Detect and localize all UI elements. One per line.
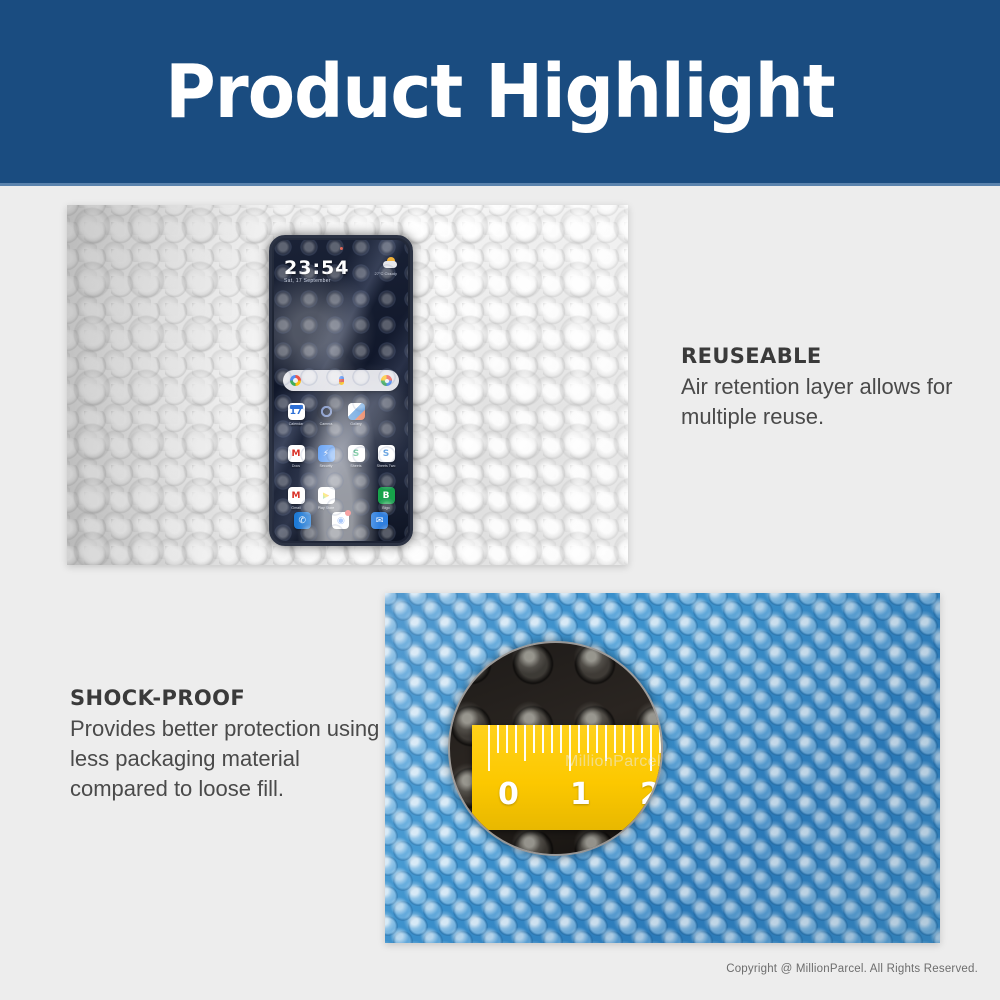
gmail-icon: M xyxy=(288,487,305,504)
closeup-inset-circle: 0 1 2 xyxy=(448,641,663,856)
play-store-icon xyxy=(318,487,335,504)
page-title: Product Highlight xyxy=(165,55,835,129)
clock-widget-time: 23:54 xyxy=(284,257,349,279)
photo-phone-in-bubble-wrap: 23:54 Sat, 17 September 27°C Cloudy 17 C… xyxy=(67,205,628,565)
app-label: Calendar xyxy=(289,422,304,426)
feature-body: Provides better protection using less pa… xyxy=(70,714,400,804)
ruler-tick-marks xyxy=(488,725,663,773)
app-camera[interactable]: Camera xyxy=(311,403,341,426)
microphone-icon xyxy=(339,376,344,385)
app-bigo[interactable]: B Bigo xyxy=(371,487,401,510)
app-label: Bigo xyxy=(382,506,389,510)
google-search-bar[interactable] xyxy=(283,370,399,391)
footer-copyright: Copyright @ MillionParcel. All Rights Re… xyxy=(726,963,978,975)
feature-title: SHOCK-PROOF xyxy=(70,686,400,710)
feature-block-reuseable: REUSEABLE Air retention layer allows for… xyxy=(681,344,981,432)
app-label: Sheets xyxy=(350,464,361,468)
header-underline xyxy=(0,183,1000,186)
messages-dock-icon[interactable]: ✉ xyxy=(371,512,388,529)
header-banner: Product Highlight xyxy=(0,0,1000,183)
phone-dock-icon[interactable]: ✆ xyxy=(294,512,311,529)
ruler-label-1: 1 xyxy=(570,777,591,812)
feature-title: REUSEABLE xyxy=(681,344,981,368)
app-calendar[interactable]: 17 Calendar xyxy=(281,403,311,426)
google-logo-icon xyxy=(290,375,301,386)
ruler-label-0: 0 xyxy=(498,777,519,812)
bigo-icon: B xyxy=(378,487,395,504)
app-label: Gallery xyxy=(350,422,361,426)
cloud-icon xyxy=(383,261,397,268)
feature-block-shock-proof: SHOCK-PROOF Provides better protection u… xyxy=(70,686,400,804)
app-gallery[interactable]: Gallery xyxy=(341,403,371,426)
app-label: Camera xyxy=(320,422,333,426)
gallery-icon xyxy=(348,403,365,420)
ruler-label-2: 2 xyxy=(640,777,661,812)
google-lens-icon xyxy=(381,375,392,386)
app-label: Gmail xyxy=(291,506,300,510)
notification-dot-icon xyxy=(340,247,343,250)
yellow-ruler: 0 1 2 xyxy=(472,725,663,830)
calendar-icon: 17 xyxy=(288,403,305,420)
weather-label: 27°C Cloudy xyxy=(375,271,398,276)
app-label: Play Store xyxy=(318,506,335,510)
app-label: Docs xyxy=(292,464,300,468)
app-spacer-two xyxy=(341,487,371,510)
app-label: Security xyxy=(320,464,333,468)
phone-screen: 23:54 Sat, 17 September 27°C Cloudy 17 C… xyxy=(274,240,408,541)
docs-icon: M xyxy=(288,445,305,462)
product-highlight-page: Product Highlight 23:54 Sat, 17 Septembe… xyxy=(0,0,1000,1000)
phone-dock: ✆ ◉ ✉ xyxy=(283,512,399,529)
camera-icon xyxy=(318,403,335,420)
badge-icon xyxy=(345,510,351,516)
security-icon xyxy=(318,445,335,462)
app-spacer xyxy=(371,403,401,426)
app-icon-grid: 17 Calendar Camera Gallery M Docs xyxy=(281,403,401,510)
app-sheets-two[interactable]: S Sheets Two xyxy=(371,445,401,468)
app-sheets[interactable]: S Sheets xyxy=(341,445,371,468)
app-play-store[interactable]: Play Store xyxy=(311,487,341,510)
chrome-dock-icon[interactable]: ◉ xyxy=(332,512,349,529)
app-gmail[interactable]: M Gmail xyxy=(281,487,311,510)
sheets-icon: S xyxy=(348,445,365,462)
feature-body: Air retention layer allows for multiple … xyxy=(681,372,981,432)
sheets-two-icon: S xyxy=(378,445,395,462)
clock-widget-date: Sat, 17 September xyxy=(284,278,331,284)
app-security[interactable]: Security xyxy=(311,445,341,468)
weather-widget: 27°C Cloudy xyxy=(383,257,397,269)
photo-blue-bubble-wrap: 0 1 2 MillionParcel xyxy=(385,593,940,943)
app-label: Sheets Two xyxy=(377,464,396,468)
phone-status-bar xyxy=(274,243,408,252)
wrapped-smartphone: 23:54 Sat, 17 September 27°C Cloudy 17 C… xyxy=(269,235,413,546)
app-docs[interactable]: M Docs xyxy=(281,445,311,468)
